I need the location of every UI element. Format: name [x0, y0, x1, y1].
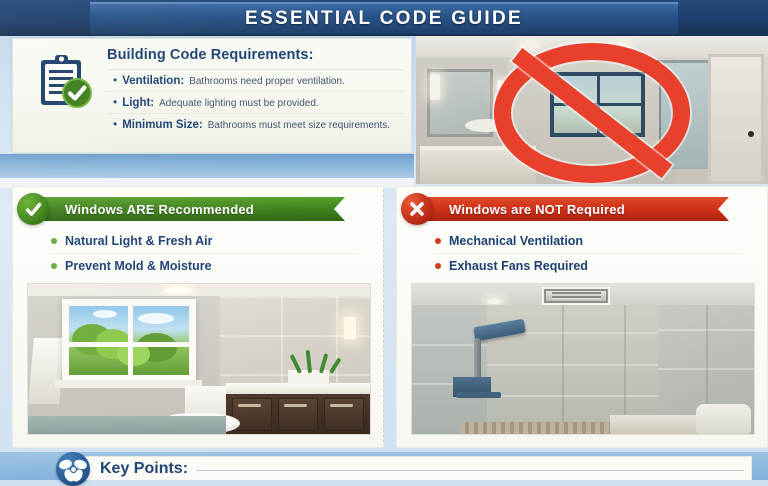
bullet-dot-icon: [435, 263, 441, 269]
windows-recommended-ribbon: Windows ARE Recommended: [27, 197, 345, 221]
key-points-title: Key Points:: [100, 460, 188, 478]
exhaust-fan-in-photo: [542, 287, 610, 305]
recommended-bullet-list: Natural Light & Fresh Air Prevent Mold &…: [49, 229, 359, 278]
windows-recommended-panel: Windows ARE Recommended Natural Light & …: [12, 186, 384, 448]
code-term: Minimum Size:: [122, 119, 203, 131]
bullet-dot-icon: [51, 238, 57, 244]
building-code-body: Building Code Requirements: • Ventilatio…: [107, 47, 403, 135]
windows-not-required-panel: Windows are NOT Required Mechanical Vent…: [396, 186, 768, 448]
window-in-photo: [62, 299, 195, 382]
not-required-bullet-list: Mechanical Ventilation Exhaust Fans Requ…: [433, 229, 743, 278]
bullet-label: Exhaust Fans Required: [449, 259, 588, 273]
bullet-icon: •: [113, 118, 117, 130]
windowless-tiled-shower-with-exhaust-fan-photo: [411, 283, 755, 435]
ceiling-fan-icon: [56, 452, 90, 486]
building-code-heading: Building Code Requirements:: [107, 47, 403, 63]
check-circle-icon: [17, 193, 49, 225]
bullet-icon: •: [113, 74, 117, 86]
bullet-label: Mechanical Ventilation: [449, 234, 583, 248]
code-requirement-row: • Minimum Size: Bathrooms must meet size…: [107, 113, 403, 135]
ribbon-label: Windows are NOT Required: [449, 202, 625, 217]
list-item: Prevent Mold & Moisture: [49, 254, 359, 278]
header-bar: ESSENTIAL CODE GUIDE: [0, 0, 768, 36]
key-points-rule: [196, 470, 744, 471]
bullet-label: Natural Light & Fresh Air: [65, 234, 212, 248]
code-requirement-row: • Light: Adequate lighting must be provi…: [107, 91, 403, 113]
clipboard-check-icon: [33, 51, 95, 113]
bullet-dot-icon: [435, 238, 441, 244]
list-item: Exhaust Fans Required: [433, 254, 743, 278]
ribbon-label: Windows ARE Recommended: [65, 202, 254, 217]
code-description: Bathrooms must meet size requirements.: [208, 120, 390, 131]
code-requirement-row: • Ventilation: Bathrooms need proper ven…: [107, 69, 403, 91]
bright-bathroom-with-window-photo: [27, 283, 371, 435]
code-description: Adequate lighting must be provided.: [159, 98, 319, 109]
list-item: Mechanical Ventilation: [433, 229, 743, 254]
list-item: Natural Light & Fresh Air: [49, 229, 359, 254]
panel-divider: [383, 190, 384, 444]
prohibition-no-sign-icon: [494, 43, 690, 183]
infographic-page: ESSENTIAL CODE GUIDE Building Code Requi…: [0, 0, 768, 480]
x-circle-icon: [401, 193, 433, 225]
bullet-label: Prevent Mold & Moisture: [65, 259, 212, 273]
header-title-band: ESSENTIAL CODE GUIDE: [90, 2, 678, 34]
bullet-dot-icon: [51, 263, 57, 269]
bullet-icon: •: [113, 96, 117, 108]
windows-not-required-ribbon: Windows are NOT Required: [411, 197, 729, 221]
code-description: Bathrooms need proper ventilation.: [189, 76, 345, 87]
code-term: Light:: [122, 97, 154, 109]
building-code-card: Building Code Requirements: • Ventilatio…: [12, 38, 412, 153]
page-title: ESSENTIAL CODE GUIDE: [90, 3, 678, 34]
code-term: Ventilation:: [122, 75, 184, 87]
blue-accent-band: [0, 154, 414, 180]
bathroom-with-window-photo: [416, 36, 768, 184]
